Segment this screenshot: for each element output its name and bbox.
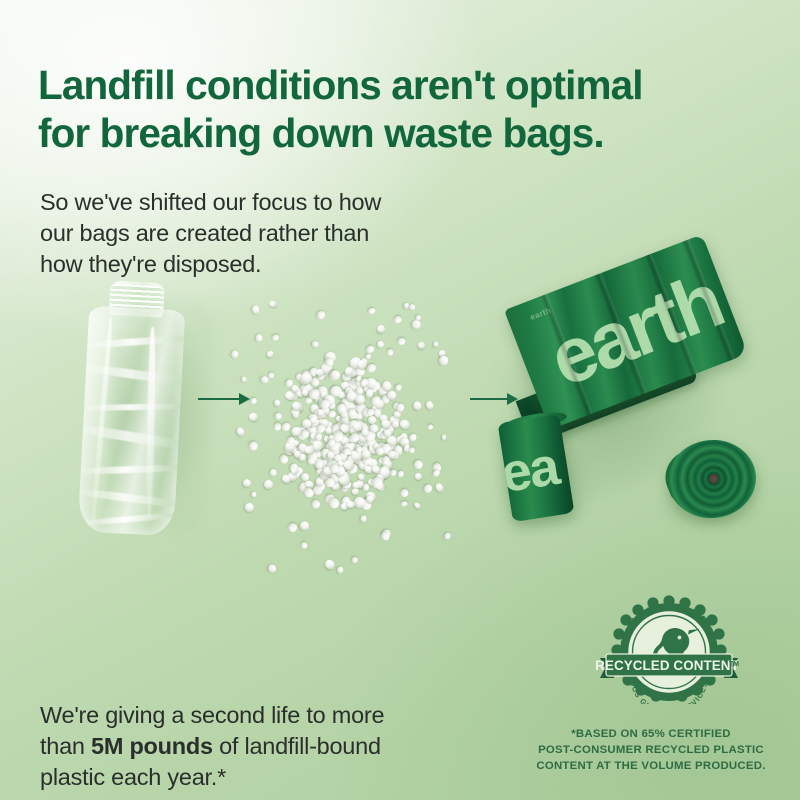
resin-pellet — [274, 399, 281, 406]
resin-pellet — [300, 541, 308, 549]
arrow-shaft — [198, 398, 241, 400]
resin-pellet — [351, 555, 359, 563]
resin-pellet — [311, 341, 319, 349]
resin-pellet — [287, 522, 298, 532]
resin-pellet — [413, 501, 421, 509]
resin-pellet — [422, 483, 433, 494]
resin-pellet — [242, 477, 253, 488]
resin-pellet — [401, 500, 408, 506]
bottom-line-2-suffix: of landfill-bound — [213, 733, 381, 759]
resin-pellet — [312, 440, 323, 451]
footnote-line-3: CONTENT AT THE VOLUME PRODUCED. — [520, 759, 782, 775]
bottom-line-3: plastic each year.* — [40, 762, 460, 793]
arrow-shaft — [470, 398, 509, 400]
resin-pellet — [360, 515, 367, 523]
resin-pellet — [298, 520, 309, 531]
resin-pellet — [430, 468, 440, 478]
resin-pellet — [337, 566, 344, 574]
resin-pellet — [248, 412, 259, 422]
resin-pellet — [394, 383, 403, 392]
resin-pellet — [375, 324, 386, 335]
resin-pellet — [252, 492, 257, 498]
resin-pellet — [425, 400, 435, 411]
resin-pellet — [251, 305, 259, 314]
recycled-resin-pellets — [236, 300, 446, 565]
resin-pellet — [244, 501, 256, 513]
resin-pellet — [377, 340, 385, 348]
footnote-text: *BASED ON 65% CERTIFIED POST-CONSUMER RE… — [520, 727, 782, 774]
resin-pellet — [265, 350, 274, 359]
bottom-line-1: We're giving a second life to more — [40, 700, 460, 731]
resin-pellet — [412, 400, 423, 411]
crushed-plastic-bottle — [71, 279, 194, 542]
resin-pellet — [412, 459, 425, 471]
resin-pellet — [398, 418, 411, 431]
resin-pellet — [417, 341, 427, 350]
resin-pellet — [352, 481, 360, 489]
resin-pellet — [397, 337, 406, 345]
resin-pellet — [400, 489, 409, 499]
resin-pellet — [414, 472, 423, 481]
footnote-line-2: POST-CONSUMER RECYCLED PLASTIC — [520, 743, 782, 759]
resin-pellet — [305, 446, 314, 454]
resin-pellet — [231, 350, 239, 359]
resin-pellet — [314, 308, 326, 320]
resin-pellet — [274, 411, 283, 420]
resin-pellet — [365, 345, 376, 355]
resin-pellet — [317, 409, 324, 417]
resin-pellet — [386, 348, 394, 357]
resin-pellet — [311, 499, 322, 510]
resin-pellet — [278, 453, 289, 464]
resin-pellet — [260, 375, 269, 383]
resin-pellet — [439, 355, 449, 366]
resin-pellet — [323, 558, 336, 571]
resin-pellet — [268, 300, 277, 308]
resin-pellet — [242, 377, 247, 383]
resin-pellet — [393, 315, 402, 324]
footnote-line-1: *BASED ON 65% CERTIFIED — [520, 727, 782, 743]
bottom-statement-text: We're giving a second life to more than … — [40, 700, 460, 793]
resin-pellet — [367, 306, 376, 315]
resin-pellet — [341, 425, 350, 433]
resin-pellet — [273, 422, 281, 431]
resin-pellet — [269, 468, 278, 477]
resin-pellet — [262, 478, 275, 491]
resin-pellet — [427, 423, 434, 429]
resin-pellet — [442, 434, 446, 440]
infographic-canvas: Landfill conditions aren't optimal for b… — [0, 0, 800, 800]
badge-ribbon-label: RECYCLED CONTENT — [596, 658, 740, 673]
bottom-line-2-prefix: than — [40, 733, 91, 759]
resin-pellet — [433, 341, 438, 348]
resin-pellet — [434, 482, 444, 493]
scs-certified-recycled-content-badge: CERTIFIED RECYCLED CONTENT TM — [596, 592, 742, 704]
resin-pellet — [269, 565, 277, 573]
resin-pellet — [280, 422, 291, 433]
bottom-line-2: than 5M pounds of landfill-bound — [40, 731, 460, 762]
bottom-line-2-highlight: 5M pounds — [91, 733, 213, 759]
badge-trademark-label: TM — [729, 661, 739, 668]
resin-pellet — [272, 334, 280, 342]
resin-pellet — [235, 426, 245, 437]
resin-pellet — [247, 440, 260, 453]
resin-pellet — [255, 334, 263, 344]
resin-pellet — [249, 396, 258, 405]
resin-pellet — [395, 469, 404, 478]
resin-pellet — [408, 304, 416, 312]
resin-pellet — [408, 446, 415, 454]
bottle-body — [78, 306, 186, 537]
resin-pellet — [443, 531, 452, 540]
